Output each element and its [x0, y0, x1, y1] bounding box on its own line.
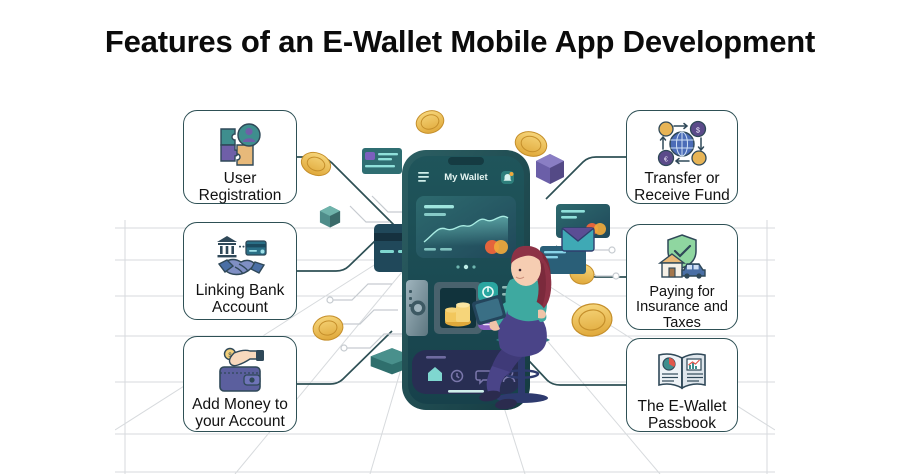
feature-label: Transfer or Receive Fund [619, 171, 745, 204]
bank-handshake-icon [211, 231, 269, 281]
feature-card-insurance-taxes[interactable]: Paying for Insurance and Taxes [626, 224, 738, 330]
safe-vault-icon [406, 280, 482, 336]
central-illustration: My Wallet [300, 96, 630, 426]
feature-card-user-registration[interactable]: User Registration [183, 110, 297, 204]
feature-card-transfer-fund[interactable]: $ € Transfer or Receive Fund [626, 110, 738, 204]
phone-payment-card [416, 196, 516, 258]
globe-transfer-icon: $ € [653, 119, 711, 169]
svg-text:$: $ [696, 128, 700, 135]
feature-card-linking-bank[interactable]: Linking Bank Account [183, 222, 297, 320]
shield-house-car-icon [653, 233, 711, 283]
puzzle-user-icon [211, 119, 269, 169]
feature-label: Add Money to your Account [180, 397, 300, 430]
hand-coin-wallet-icon: $ [211, 345, 269, 395]
feature-card-passbook[interactable]: The E-Wallet Passbook [626, 338, 738, 432]
feature-card-add-money[interactable]: $ Add Money to your Account [183, 336, 297, 432]
svg-text:My Wallet: My Wallet [444, 172, 488, 183]
svg-text:€: € [664, 157, 668, 164]
envelope-icon [562, 228, 594, 251]
infographic-canvas: Features of an E-Wallet Mobile App Devel… [0, 0, 920, 474]
bell-icon [501, 171, 514, 184]
feature-label: Linking Bank Account [177, 283, 303, 316]
open-book-charts-icon [653, 347, 711, 397]
feature-label: Paying for Insurance and Taxes [621, 285, 743, 331]
feature-label: User Registration [177, 171, 303, 204]
feature-label: The E-Wallet Passbook [619, 399, 745, 432]
